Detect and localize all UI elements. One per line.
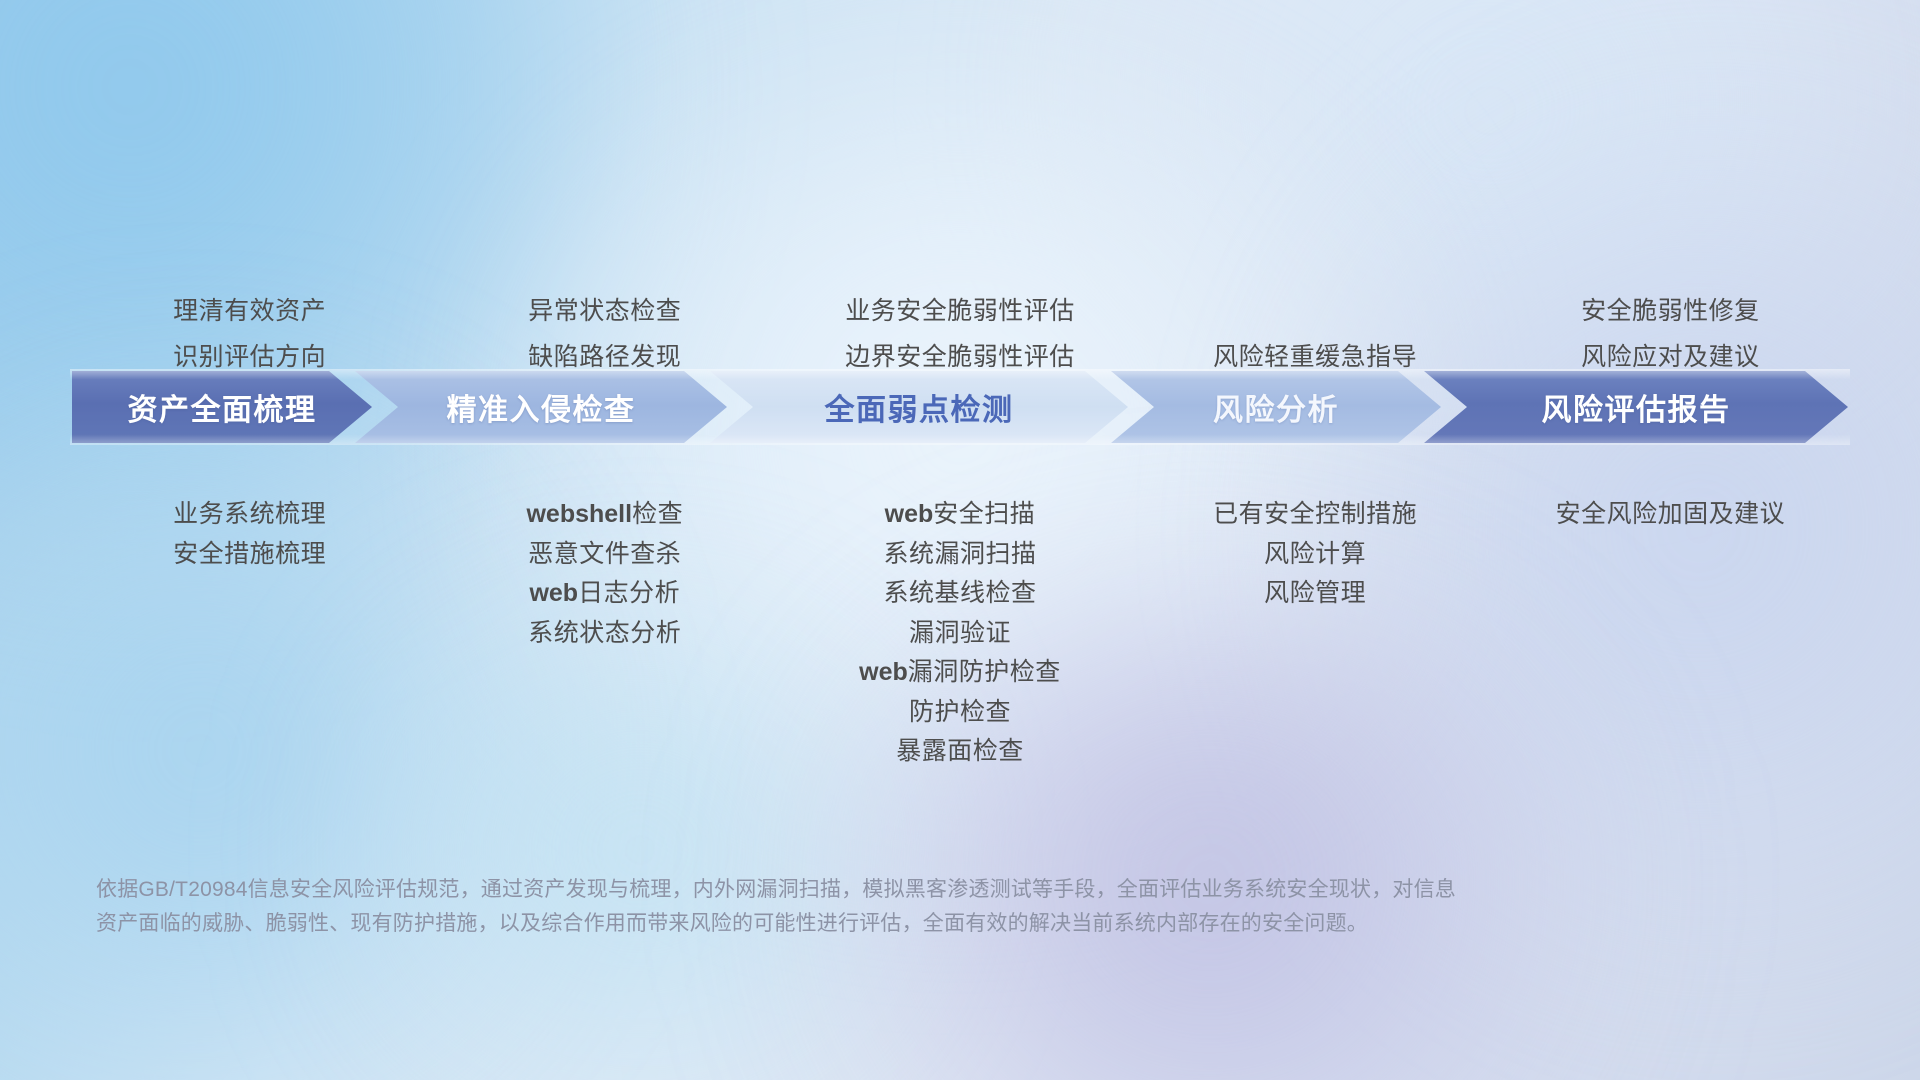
stage-2-output-1: webshell检查 <box>427 495 782 535</box>
stage-3-output-4: 漏洞验证 <box>782 614 1137 654</box>
stage-1-inputs: 理清有效资产 识别评估方向 <box>72 288 427 380</box>
stage-5-inputs: 安全脆弱性修复 风险应对及建议 <box>1493 288 1848 380</box>
stage-1-output-2: 安全措施梳理 <box>72 535 427 575</box>
stage-4-output-2: 风险计算 <box>1138 535 1493 575</box>
stage-2-inputs: 异常状态检查 缺陷路径发现 <box>427 288 782 380</box>
stage-3-output-2: 系统漏洞扫描 <box>782 535 1137 575</box>
stage-arrow-5[interactable]: 风险评估报告 <box>1424 371 1848 443</box>
stage-5-outputs: 安全风险加固及建议 <box>1493 495 1848 535</box>
stage-arrow-1[interactable]: 资产全面梳理 <box>72 371 372 443</box>
footer-line-2: 资产面临的威胁、脆弱性、现有防护措施，以及综合作用而带来风险的可能性进行评估，全… <box>96 907 1586 941</box>
stage-arrow-1-label: 资产全面梳理 <box>128 385 317 429</box>
footer-line-1: 依据GB/T20984信息安全风险评估规范，通过资产发现与梳理，内外网漏洞扫描，… <box>96 873 1586 907</box>
stage-2-input-1: 异常状态检查 <box>427 288 782 334</box>
stage-4-inputs: 风险轻重缓急指导 <box>1138 288 1493 380</box>
stage-4-output-3: 风险管理 <box>1138 574 1493 614</box>
stage-4-output-1: 已有安全控制措施 <box>1138 495 1493 535</box>
stage-3-output-3: 系统基线检查 <box>782 574 1137 614</box>
diagram-canvas: 理清有效资产 识别评估方向 业务系统梳理 安全措施梳理 异常状态检查 缺陷路径发… <box>0 0 1920 1080</box>
stage-2-output-4: 系统状态分析 <box>427 614 782 654</box>
stage-3-input-1: 业务安全脆弱性评估 <box>782 288 1137 334</box>
stage-3-output-6: 防护检查 <box>782 693 1137 733</box>
stage-5-input-1: 安全脆弱性修复 <box>1493 288 1848 334</box>
process-arrow-band: 资产全面梳理 精准入侵检查 全面弱点检测 风险分析 风险评估报告 <box>72 371 1848 443</box>
stage-2-outputs: webshell检查 恶意文件查杀 web日志分析 系统状态分析 <box>427 495 782 653</box>
stage-5-output-1: 安全风险加固及建议 <box>1493 495 1848 535</box>
stage-3-inputs: 业务安全脆弱性评估 边界安全脆弱性评估 <box>782 288 1137 380</box>
stage-arrow-3[interactable]: 全面弱点检测 <box>710 371 1128 443</box>
stage-arrow-4[interactable]: 风险分析 <box>1111 371 1441 443</box>
stage-3-outputs: web安全扫描 系统漏洞扫描 系统基线检查 漏洞验证 web漏洞防护检查 防护检… <box>782 495 1137 772</box>
stage-3-output-7: 暴露面检查 <box>782 732 1137 772</box>
stage-1-input-1: 理清有效资产 <box>72 288 427 334</box>
stage-arrow-5-label: 风险评估报告 <box>1542 385 1731 429</box>
stage-arrow-4-label: 风险分析 <box>1213 385 1339 429</box>
stage-3-output-1: web安全扫描 <box>782 495 1137 535</box>
stage-arrow-3-label: 全面弱点检测 <box>825 385 1014 429</box>
footer-description: 依据GB/T20984信息安全风险评估规范，通过资产发现与梳理，内外网漏洞扫描，… <box>96 873 1586 941</box>
stage-2-output-2: 恶意文件查杀 <box>427 535 782 575</box>
stage-arrow-2-label: 精准入侵检查 <box>447 385 636 429</box>
stage-1-outputs: 业务系统梳理 安全措施梳理 <box>72 495 427 574</box>
stage-4-outputs: 已有安全控制措施 风险计算 风险管理 <box>1138 495 1493 614</box>
stage-3-output-5: web漏洞防护检查 <box>782 653 1137 693</box>
stage-1-output-1: 业务系统梳理 <box>72 495 427 535</box>
stage-2-output-3: web日志分析 <box>427 574 782 614</box>
stage-arrow-2[interactable]: 精准入侵检查 <box>355 371 727 443</box>
